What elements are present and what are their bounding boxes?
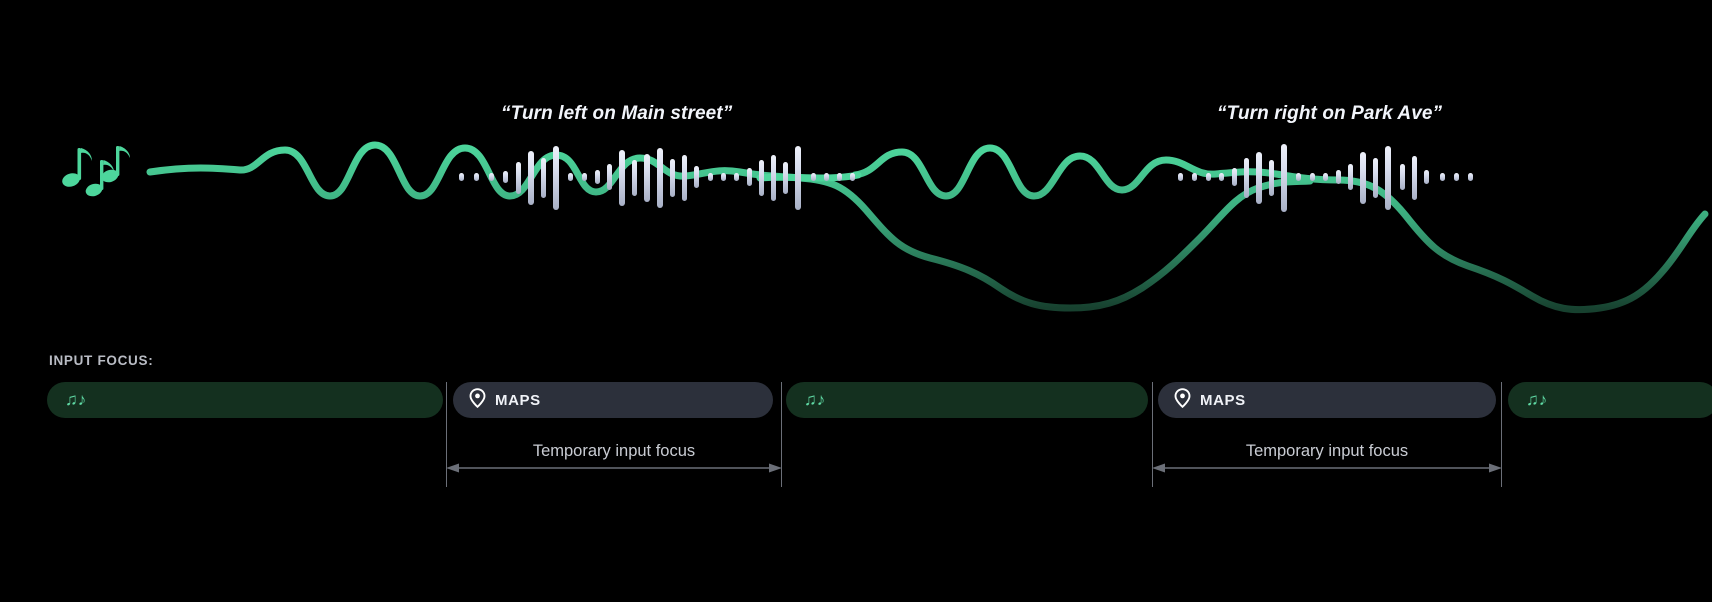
- input-focus-label: INPUT FOCUS:: [49, 353, 153, 368]
- voice-bars-group-2: [1178, 144, 1473, 212]
- focus-chip-music-3[interactable]: ♫♪: [1508, 382, 1712, 418]
- double-arrow-icon: [446, 461, 782, 475]
- focus-chip-music-2[interactable]: ♫♪: [786, 382, 1148, 418]
- voice-prompt-caption-1: “Turn left on Main street”: [501, 103, 732, 125]
- music-notes-icon: ♫♪: [65, 391, 86, 408]
- green-audio-line: [150, 145, 1705, 310]
- focus-chip-music-1[interactable]: ♫♪: [47, 382, 443, 418]
- screenshot-canvas: “Turn left on Main street” “Turn right o…: [0, 0, 1712, 602]
- annotation-label: Temporary input focus: [1152, 442, 1502, 461]
- temporary-focus-annotation-2: Temporary input focus: [1152, 382, 1502, 487]
- temporary-focus-annotation-1: Temporary input focus: [446, 382, 782, 487]
- music-notes-icon: ♫♪: [1526, 391, 1547, 408]
- voice-bars-group-1: [459, 146, 855, 210]
- audio-waveform-visualization: [0, 0, 1712, 340]
- annotation-label: Temporary input focus: [446, 442, 782, 461]
- music-notes-icon: [60, 146, 130, 198]
- double-arrow-icon: [1152, 461, 1502, 475]
- voice-prompt-caption-2: “Turn right on Park Ave”: [1217, 103, 1442, 125]
- music-notes-icon: ♫♪: [804, 391, 825, 408]
